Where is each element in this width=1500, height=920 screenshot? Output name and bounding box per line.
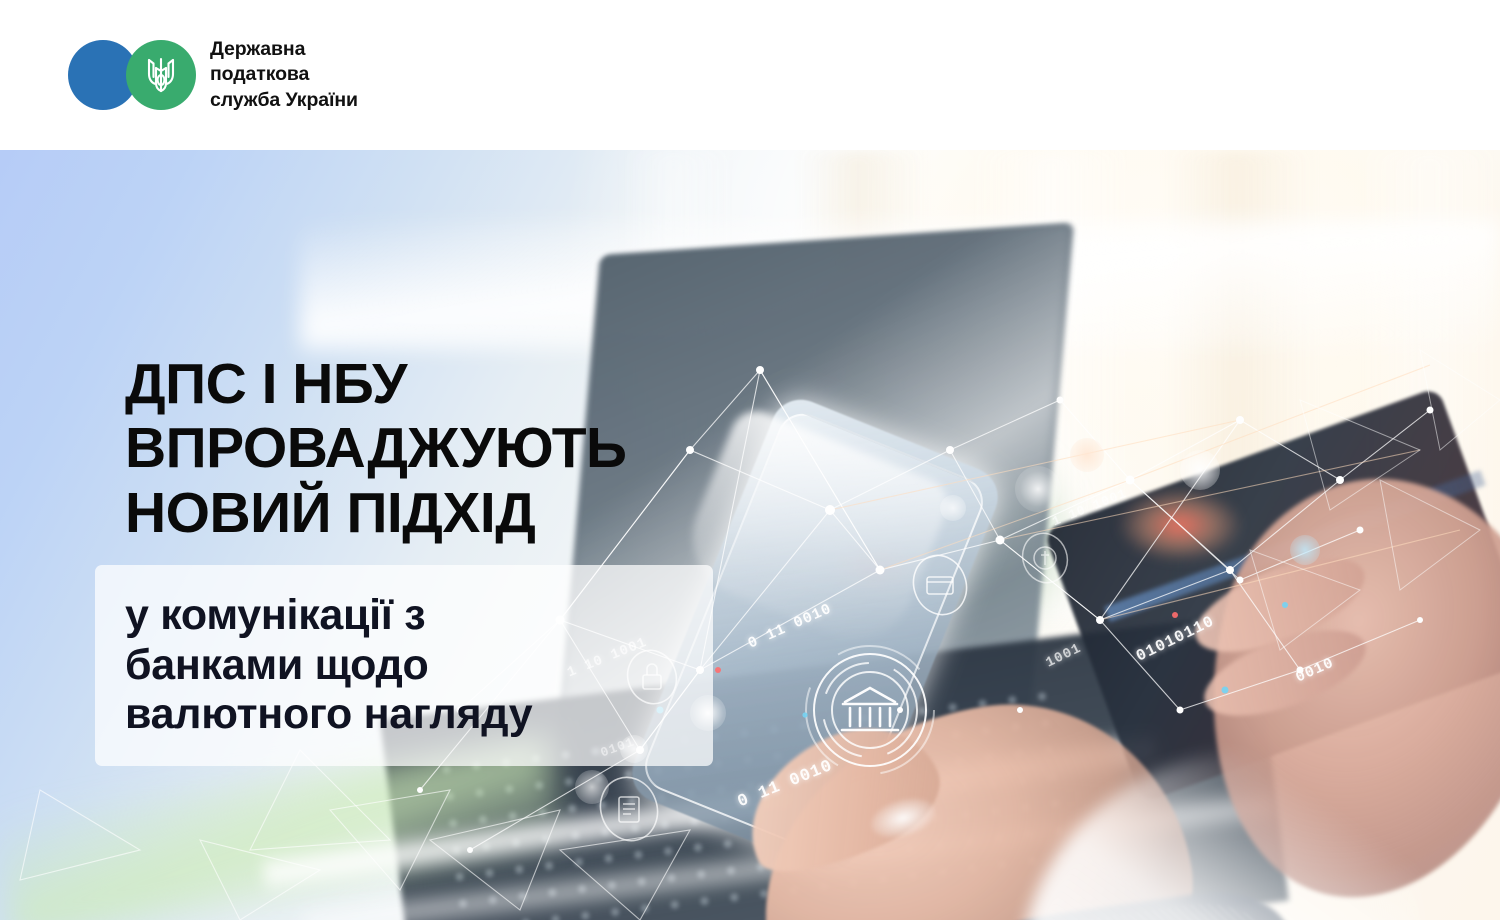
- logo-text-line-1: Державна: [210, 37, 358, 62]
- header-bar: Державна податкова служба України: [0, 0, 1500, 150]
- bokeh-dot: [1180, 450, 1220, 490]
- logo-text: Державна податкова служба України: [210, 37, 358, 113]
- promo-banner: Державна податкова служба України: [0, 0, 1500, 920]
- bokeh-dot: [940, 495, 966, 521]
- bokeh-dot: [575, 770, 609, 804]
- logo-marks: [68, 40, 196, 110]
- logo-text-line-2: податкова: [210, 62, 358, 87]
- coin-icon: [1015, 528, 1075, 593]
- credit-card-icon: [905, 550, 975, 625]
- bokeh-dot: [1290, 535, 1320, 565]
- logo-green-circle-icon: [126, 40, 196, 110]
- organization-logo[interactable]: Державна податкова служба України: [68, 37, 358, 113]
- page-title: ДПС І НБУ ВПРОВАДЖУЮТЬ НОВИЙ ПІДХІД: [125, 352, 627, 545]
- bokeh-dot: [1070, 438, 1104, 472]
- lens-flare-1: [1120, 490, 1240, 560]
- bokeh-dot: [1015, 466, 1061, 512]
- subtitle-panel: у комунікації з банками щодо валютного н…: [95, 565, 713, 766]
- logo-text-line-3: служба України: [210, 88, 358, 113]
- page-subtitle: у комунікації з банками щодо валютного н…: [95, 591, 542, 741]
- ukraine-trident-icon: [144, 53, 178, 97]
